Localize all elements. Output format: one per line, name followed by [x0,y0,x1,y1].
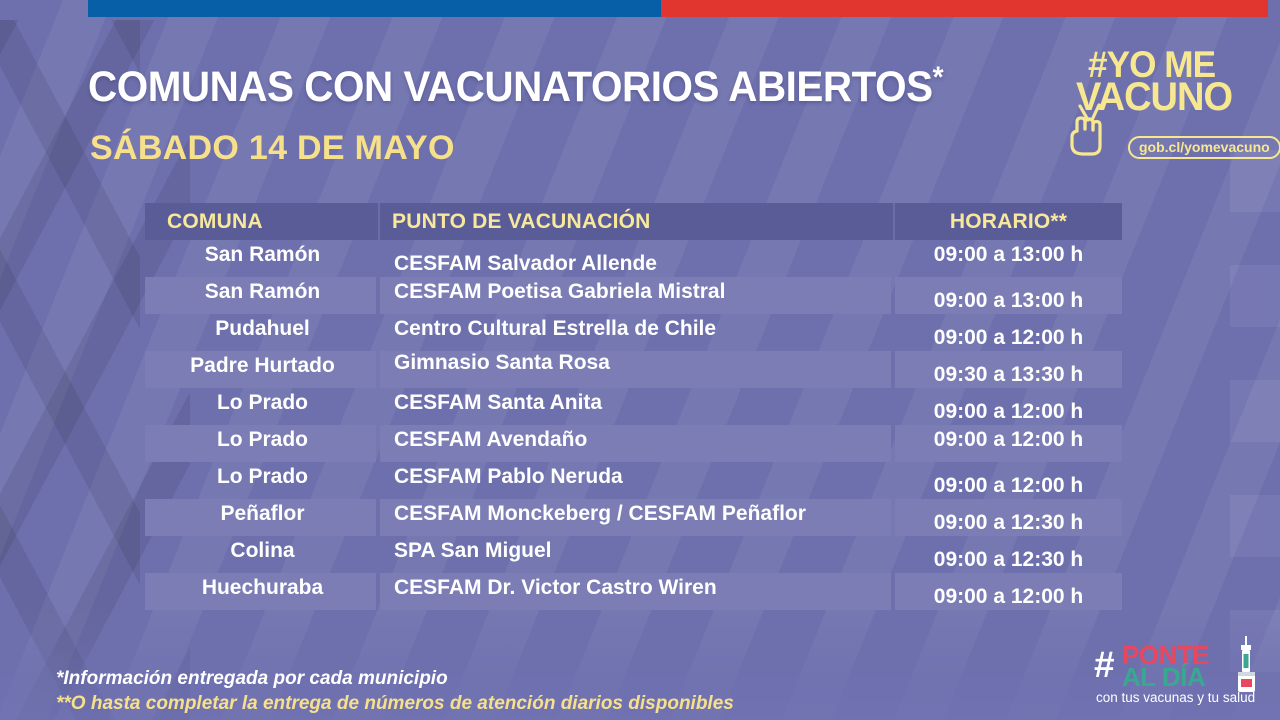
cell-horario: 09:00 a 12:00 h [895,467,1122,504]
cell-comuna: Colina [145,532,380,569]
column-header-punto: PUNTO DE VACUNACIÓN [380,203,895,240]
table-row: San Ramón CESFAM Poetisa Gabriela Mistra… [145,277,1122,314]
table-row: Lo Prado CESFAM Pablo Neruda 09:00 a 12:… [145,462,1122,499]
cell-comuna: Huechuraba [145,569,380,606]
table-row: San Ramón CESFAM Salvador Allende 09:00 … [145,240,1122,277]
cell-horario: 09:00 a 12:00 h [895,578,1122,615]
poster-canvas: COMUNAS CON VACUNATORIOS ABIERTOS* SÁBAD… [0,0,1280,720]
cell-punto: Centro Cultural Estrella de Chile [380,310,895,347]
table-row: Huechuraba CESFAM Dr. Victor Castro Wire… [145,573,1122,610]
vaccination-table: COMUNA PUNTO DE VACUNACIÓN HORARIO** San… [145,203,1122,610]
table-row: Lo Prado CESFAM Santa Anita 09:00 a 12:0… [145,388,1122,425]
cell-punto: CESFAM Pablo Neruda [380,458,895,495]
flag-bar [88,0,1268,17]
cell-punto: CESFAM Santa Anita [380,384,895,421]
cell-punto: CESFAM Poetisa Gabriela Mistral [380,273,895,310]
cell-comuna: Peñaflor [145,495,380,532]
cell-comuna: Lo Prado [145,421,380,458]
hash-icon: # [1094,646,1115,683]
page-title-asterisk: * [933,61,944,94]
cell-punto: CESFAM Monckeberg / CESFAM Peñaflor [380,495,895,532]
yomevacuno-logo: #YO ME VACUNO gob.cl/yomevacuno [1062,44,1262,166]
cell-horario: 09:30 a 13:30 h [895,356,1122,393]
cell-comuna: Lo Prado [145,384,380,421]
cell-horario: 09:00 a 12:30 h [895,504,1122,541]
page-title: COMUNAS CON VACUNATORIOS ABIERTOS* [88,63,943,109]
cell-horario: 09:00 a 12:30 h [895,541,1122,578]
cell-comuna: Pudahuel [145,310,380,347]
cell-punto: Gimnasio Santa Rosa [380,344,895,381]
cell-punto: SPA San Miguel [380,532,895,569]
cell-comuna: San Ramón [145,273,380,310]
cell-horario: 09:00 a 13:00 h [895,282,1122,319]
cell-horario: 09:00 a 12:00 h [895,421,1122,458]
footnote-double-asterisk: **O hasta completar la entrega de número… [56,691,734,716]
yomevacuno-url: gob.cl/yomevacuno [1128,136,1280,159]
pontealdia-logo: # PONTE AL DÍA con tus vacunas y tu salu… [1094,638,1269,710]
cell-comuna: Lo Prado [145,458,380,495]
flag-bar-blue-segment [88,0,661,17]
cell-comuna: San Ramón [145,236,380,273]
cell-punto: CESFAM Avendaño [380,421,895,458]
table-header-row: COMUNA PUNTO DE VACUNACIÓN HORARIO** [145,203,1122,240]
column-header-horario: HORARIO** [895,203,1122,240]
page-subtitle-date: SÁBADO 14 DE MAYO [90,131,455,165]
column-header-comuna: COMUNA [145,203,380,240]
cell-horario: 09:00 a 13:00 h [895,236,1122,273]
table-row: Peñaflor CESFAM Monckeberg / CESFAM Peña… [145,499,1122,536]
table-row: Lo Prado CESFAM Avendaño 09:00 a 12:00 h [145,425,1122,462]
cell-punto: CESFAM Dr. Victor Castro Wiren [380,569,895,606]
footnotes: *Información entregada por cada municipi… [56,666,734,716]
cell-horario: 09:00 a 12:00 h [895,319,1122,356]
flag-bar-red-segment [661,0,1268,17]
pontealdia-line2: AL DÍA [1122,664,1205,690]
table-body: San Ramón CESFAM Salvador Allende 09:00 … [145,240,1122,610]
victory-hand-icon [1068,102,1112,158]
table-row: Colina SPA San Miguel 09:00 a 12:30 h [145,536,1122,573]
syringe-vial-icon [1232,636,1262,694]
table-row: Padre Hurtado Gimnasio Santa Rosa 09:30 … [145,351,1122,388]
page-title-text: COMUNAS CON VACUNATORIOS ABIERTOS [88,63,933,111]
footnote-single-asterisk: *Información entregada por cada municipi… [56,666,734,691]
cell-comuna: Padre Hurtado [145,347,380,384]
